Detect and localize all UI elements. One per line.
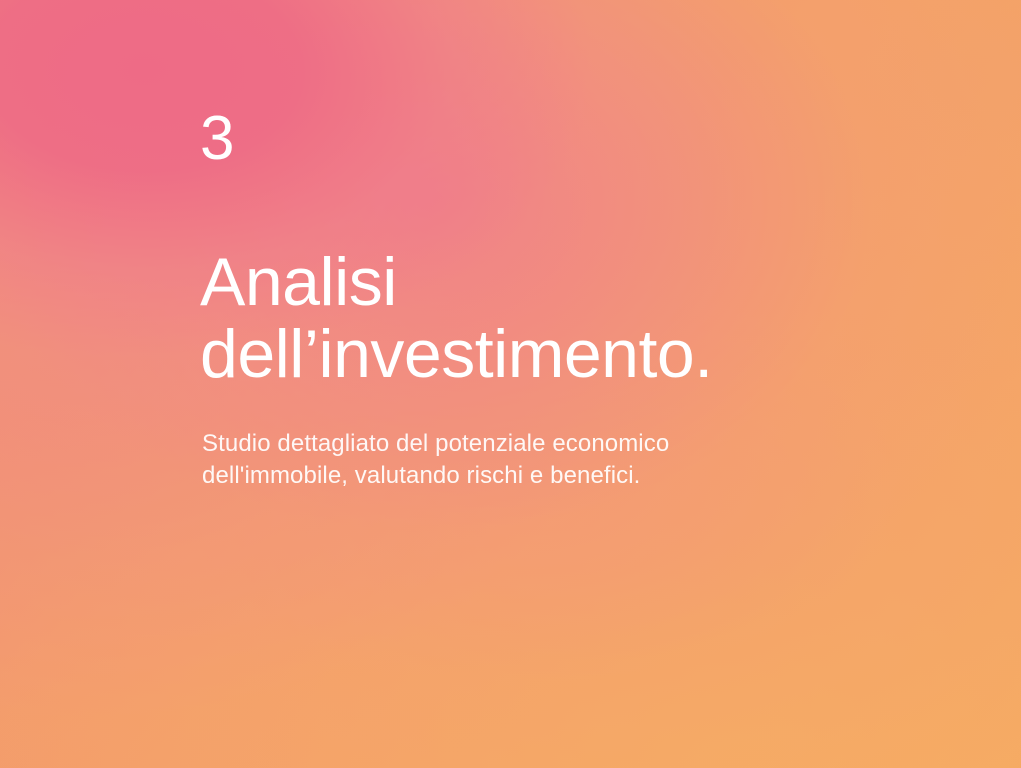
section-number: 3 [200,108,235,170]
page-title: Analisi dell’investimento. [200,246,960,390]
slide-content: 3 Analisi dell’investimento. Studio dett… [200,0,980,768]
presentation-slide: 3 Analisi dell’investimento. Studio dett… [0,0,1021,768]
slide-subtitle: Studio dettagliato del potenziale econom… [202,428,802,492]
